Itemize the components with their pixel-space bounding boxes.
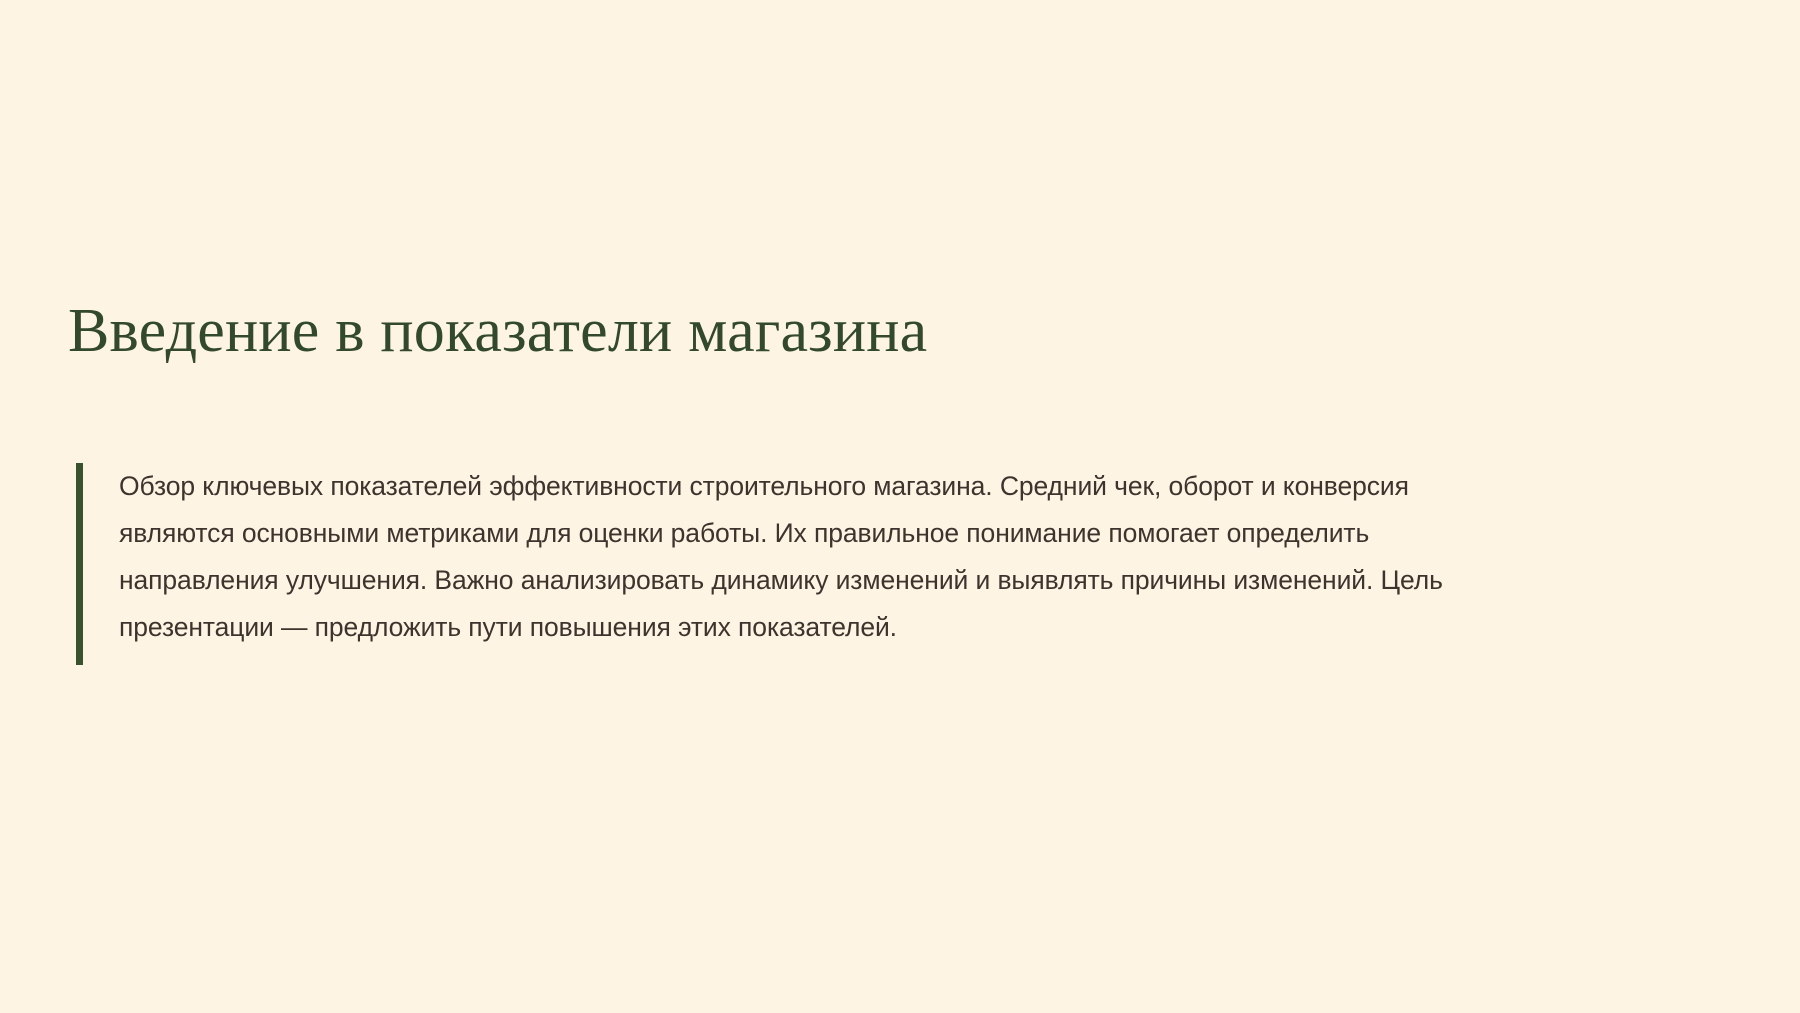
page-title: Введение в показатели магазина	[68, 296, 927, 367]
slide-canvas: Введение в показатели магазина Обзор клю…	[0, 0, 1800, 1013]
body-paragraph: Обзор ключевых показателей эффективности…	[83, 463, 1496, 665]
body-callout: Обзор ключевых показателей эффективности…	[76, 463, 1496, 665]
accent-bar	[76, 463, 83, 665]
